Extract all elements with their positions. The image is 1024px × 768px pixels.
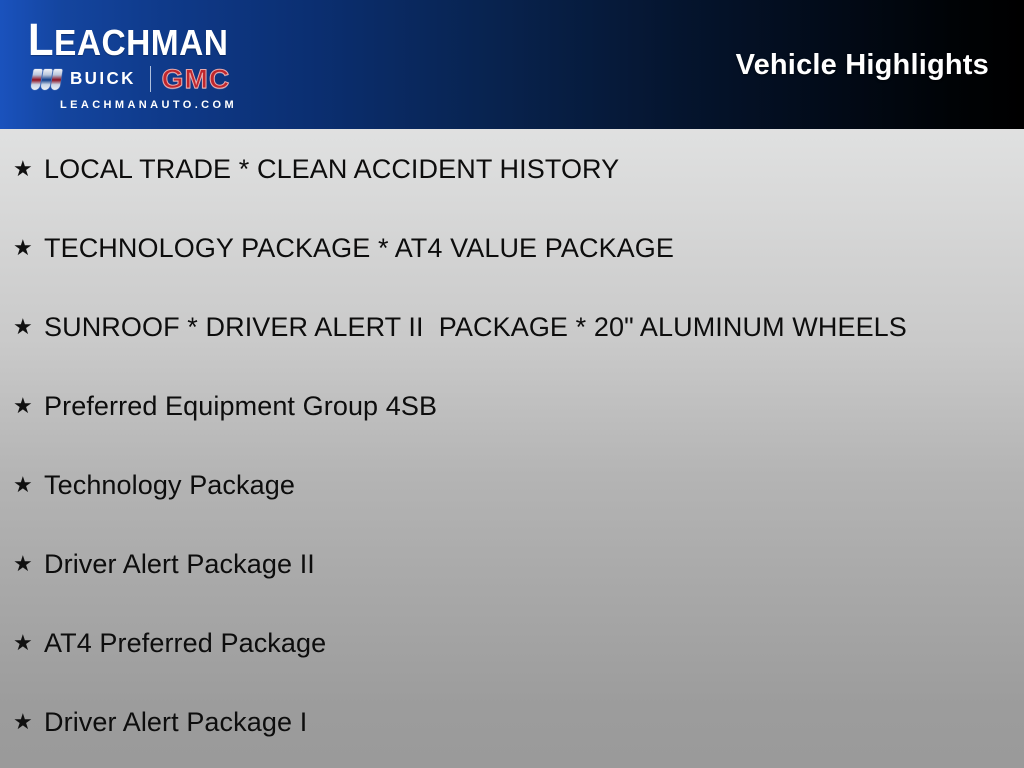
brand-divider [150,66,151,92]
star-icon: ★ [13,316,44,338]
vehicle-highlights-list: ★ LOCAL TRADE * CLEAN ACCIDENT HISTORY ★… [0,129,1024,761]
vehicle-highlights-slide: LEACHMAN BUICK GMC LEACHMANAUTO.COM Vehi… [0,0,1024,768]
star-icon: ★ [13,474,44,496]
brand-strip: BUICK GMC [32,64,229,94]
list-item: ★ Preferred Equipment Group 4SB [0,366,1024,445]
highlight-text: Driver Alert Package I [44,706,1024,738]
page-title: Vehicle Highlights [736,49,989,82]
list-item: ★ AT4 Preferred Package [0,603,1024,682]
list-item: ★ TECHNOLOGY PACKAGE * AT4 VALUE PACKAGE [0,208,1024,287]
buick-label: BUICK [70,69,136,90]
wordmark-remainder: EACHMAN [54,22,228,63]
highlight-text: LOCAL TRADE * CLEAN ACCIDENT HISTORY [44,153,1024,185]
star-icon: ★ [13,158,44,180]
list-item: ★ SUNROOF * DRIVER ALERT II PACKAGE * 20… [0,287,1024,366]
highlight-text: Preferred Equipment Group 4SB [44,390,1024,422]
highlight-text: TECHNOLOGY PACKAGE * AT4 VALUE PACKAGE [44,232,1024,264]
star-icon: ★ [13,553,44,575]
star-icon: ★ [13,395,44,417]
star-icon: ★ [13,237,44,259]
list-item: ★ Technology Package [0,445,1024,524]
list-item: ★ Driver Alert Package I [0,682,1024,761]
star-icon: ★ [13,711,44,733]
list-item: ★ Driver Alert Package II [0,524,1024,603]
slide-header: LEACHMAN BUICK GMC LEACHMANAUTO.COM Vehi… [0,0,1024,129]
star-icon: ★ [13,632,44,654]
wordmark-initial: L [28,14,54,65]
gmc-label: GMC [162,64,231,95]
dealer-logo[interactable]: LEACHMAN BUICK GMC LEACHMANAUTO.COM [0,0,320,129]
highlight-text: Driver Alert Package II [44,548,1024,580]
dealer-wordmark: LEACHMAN [28,16,274,64]
buick-tri-shield-icon [32,69,61,90]
list-item: ★ LOCAL TRADE * CLEAN ACCIDENT HISTORY [0,129,1024,208]
highlight-text: AT4 Preferred Package [44,627,1024,659]
highlight-text: SUNROOF * DRIVER ALERT II PACKAGE * 20" … [44,311,1024,343]
highlight-text: Technology Package [44,469,1024,501]
dealer-website-url[interactable]: LEACHMANAUTO.COM [60,99,237,111]
